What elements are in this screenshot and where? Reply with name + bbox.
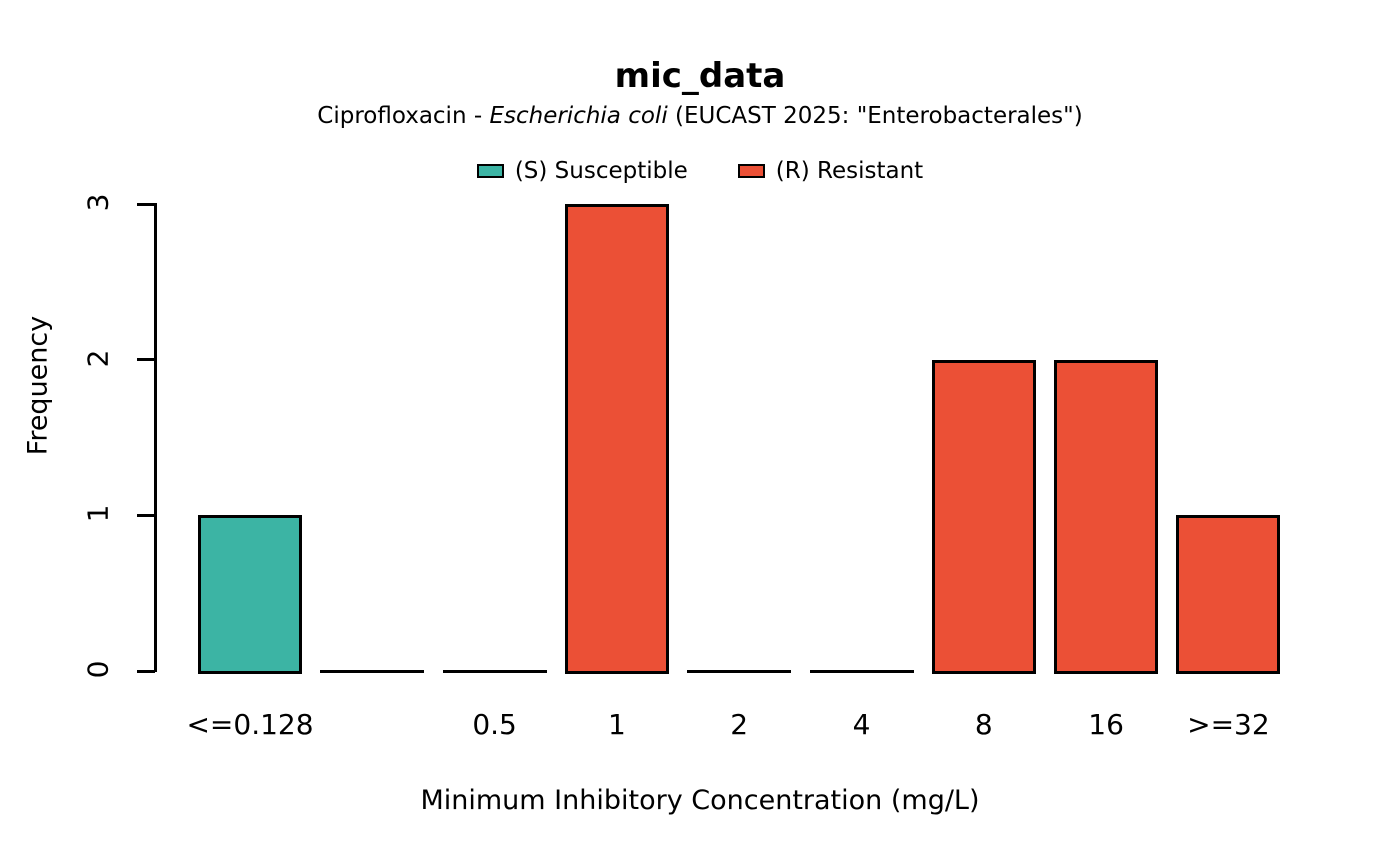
y-tick-label-2: 2 (82, 338, 115, 378)
y-axis-line (154, 203, 157, 672)
x-tick-label-<=0.128: <=0.128 (186, 708, 313, 741)
bar-8[interactable] (932, 360, 1036, 674)
y-tick-2 (137, 358, 155, 361)
bar-2[interactable] (687, 670, 791, 673)
x-tick-label-4: 4 (853, 708, 871, 741)
y-axis-title: Frequency (23, 286, 54, 486)
x-tick-label-8: 8 (975, 708, 993, 741)
x-tick-label-1: 1 (608, 708, 626, 741)
y-tick-1 (137, 514, 155, 517)
y-tick-label-0: 0 (82, 650, 115, 690)
x-tick-label-0.5: 0.5 (472, 708, 517, 741)
bar-0.5[interactable] (443, 670, 547, 673)
y-tick-label-1: 1 (82, 494, 115, 534)
bar-16[interactable] (1054, 360, 1158, 674)
bar-4[interactable] (810, 670, 914, 673)
y-tick-label-3: 3 (82, 183, 115, 223)
chart-canvas: mic_data Ciprofloxacin - Escherichia col… (0, 0, 1400, 866)
plot-area: 0123 <=0.1280.5124816>=32 Frequency Mini… (0, 0, 1400, 866)
bar-<=0.128[interactable] (198, 515, 302, 674)
y-tick-0 (137, 670, 155, 673)
bar-1[interactable] (565, 204, 669, 674)
x-tick-label->=32: >=32 (1187, 708, 1270, 741)
x-tick-label-2: 2 (730, 708, 748, 741)
x-axis-title: Minimum Inhibitory Concentration (mg/L) (0, 785, 1400, 816)
y-tick-3 (137, 203, 155, 206)
bar-0.25[interactable] (320, 670, 424, 673)
bar->=32[interactable] (1176, 515, 1280, 674)
x-tick-label-16: 16 (1088, 708, 1124, 741)
